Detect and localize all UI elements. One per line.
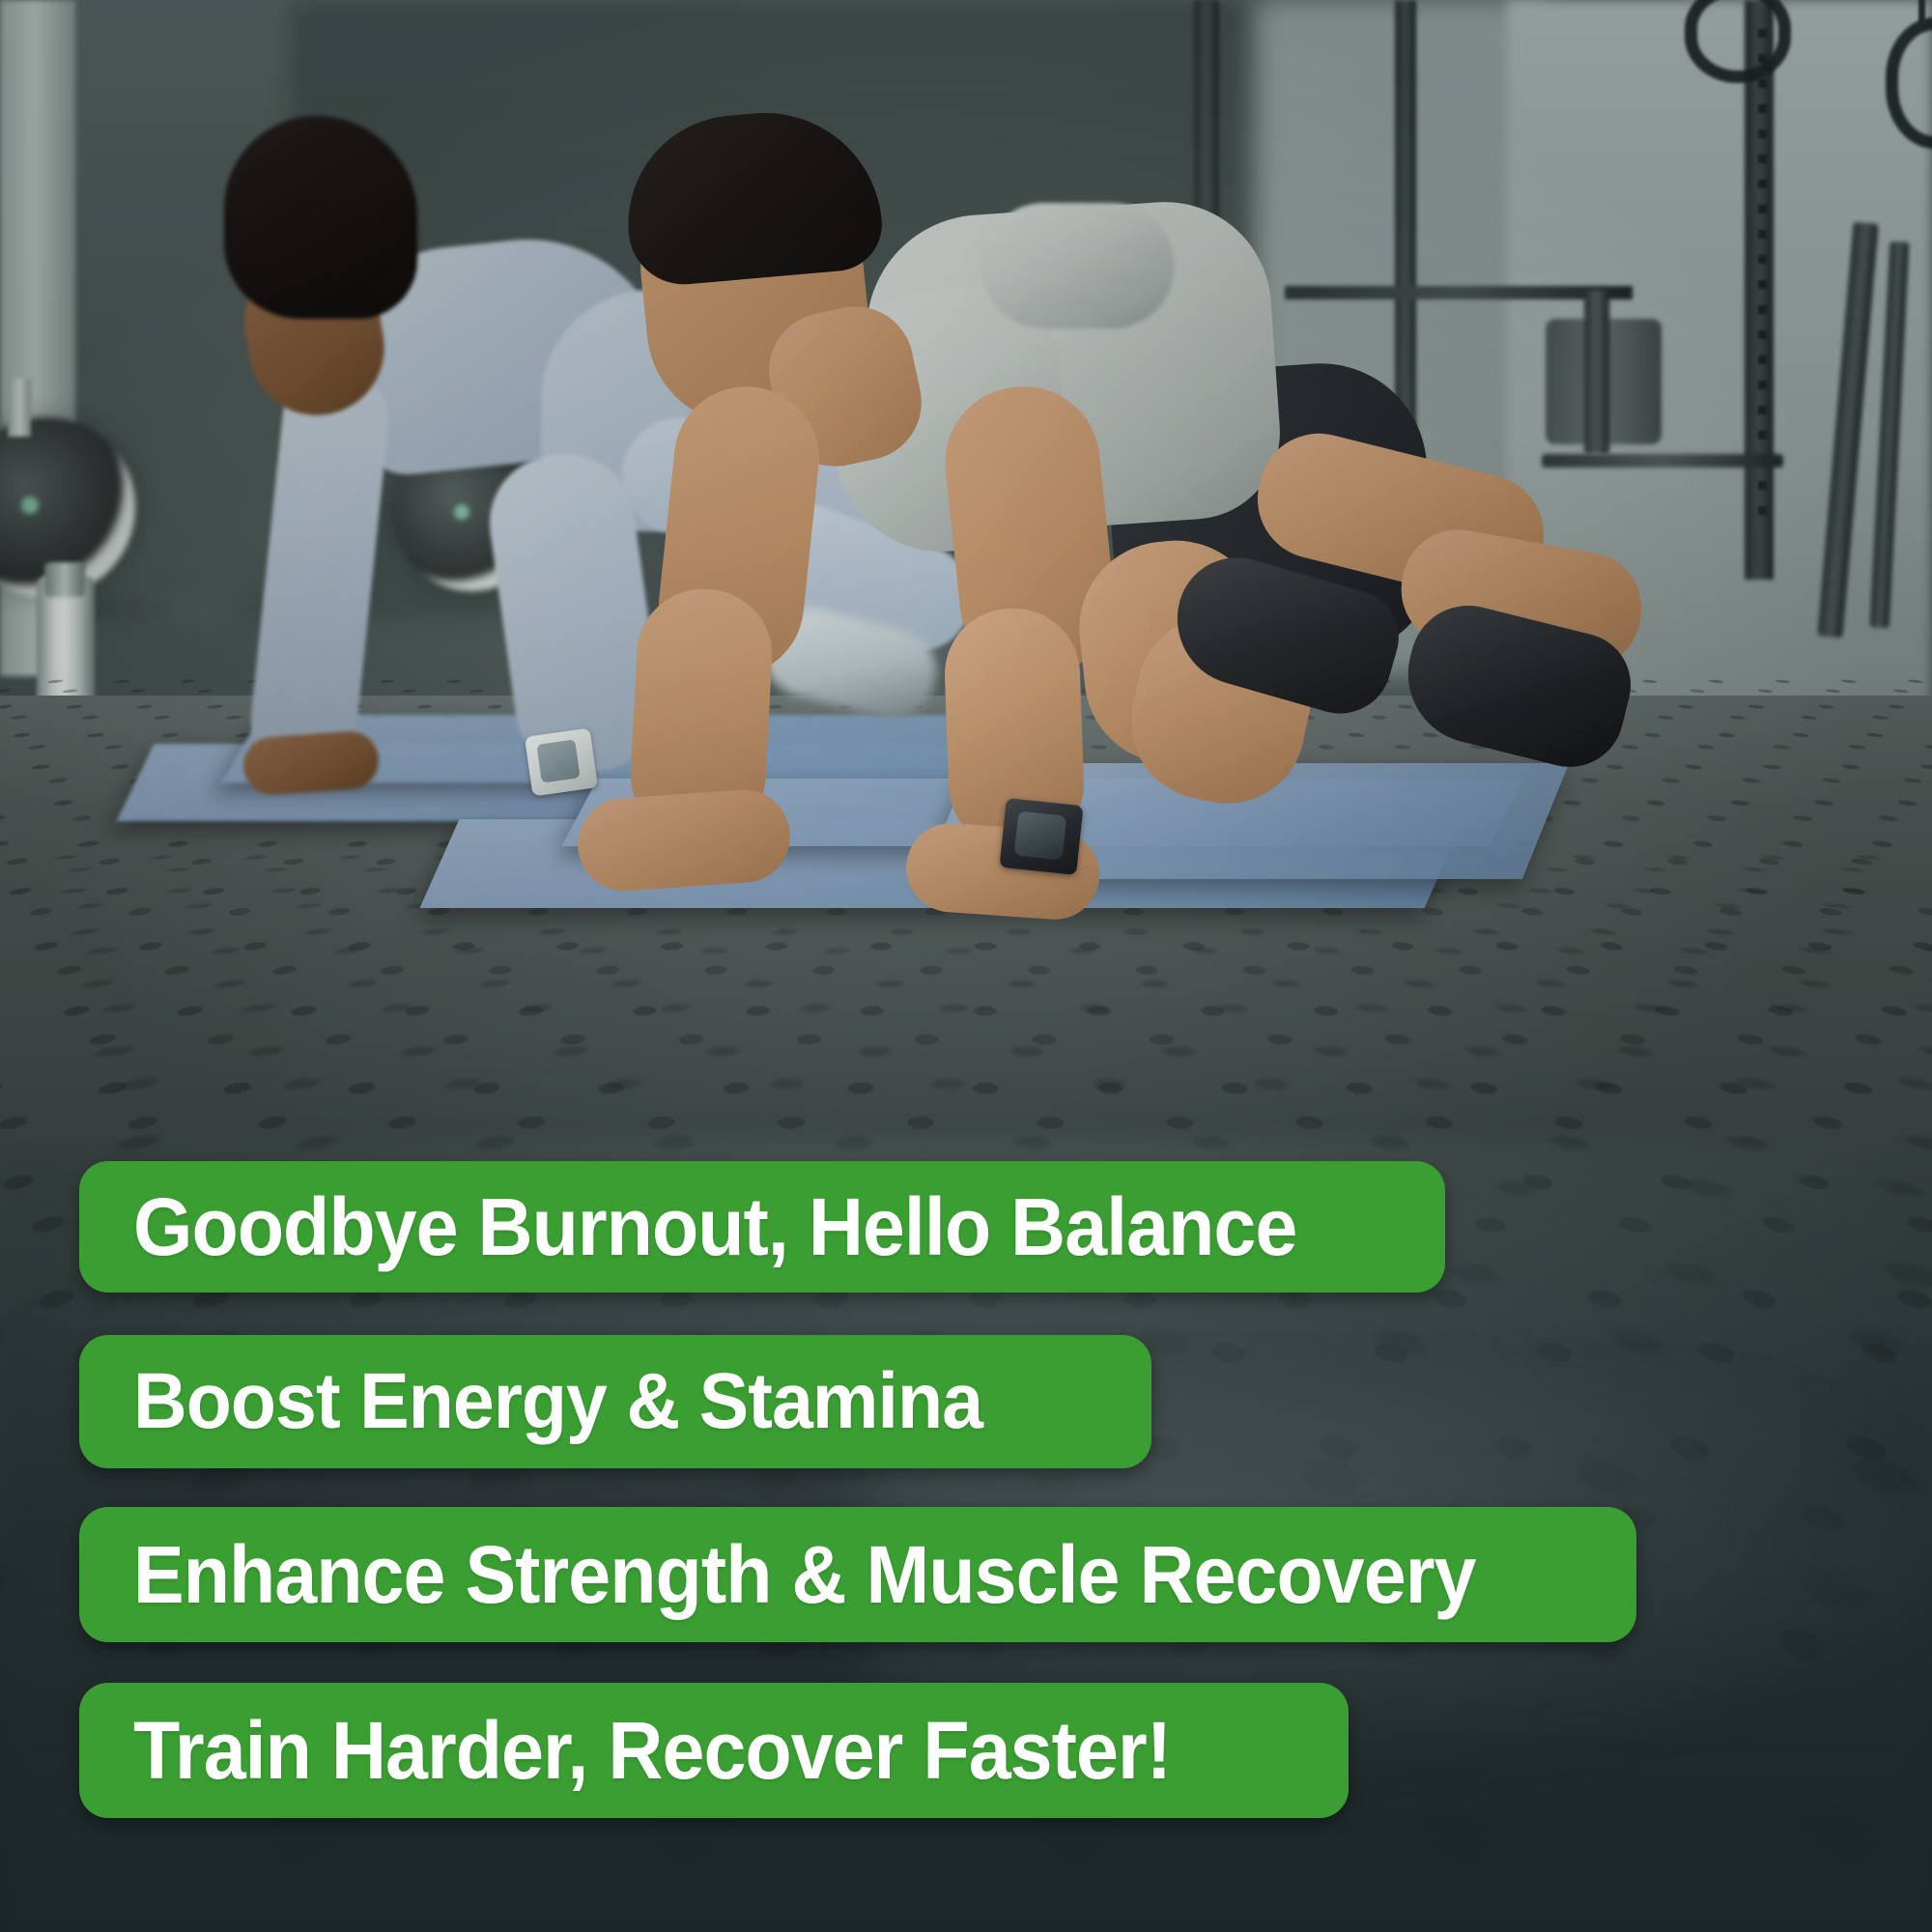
benefit-banner-4[interactable]: Train Harder, Recover Faster! bbox=[79, 1683, 1349, 1818]
ring-strap-right bbox=[1918, 0, 1925, 29]
man-hand-right bbox=[575, 786, 793, 894]
rack-crossbar bbox=[1285, 286, 1633, 299]
benefit-banner-3-label: Enhance Strength & Muscle Recovery bbox=[133, 1534, 1475, 1615]
benefit-banner-1-label: Goodbye Burnout, Hello Balance bbox=[133, 1186, 1296, 1267]
benefit-banner-1[interactable]: Goodbye Burnout, Hello Balance bbox=[79, 1161, 1445, 1293]
fan-led-mid bbox=[454, 504, 469, 520]
man-tank-shoulder bbox=[981, 203, 1175, 328]
fan-stem-left bbox=[8, 379, 31, 437]
benefit-banner-4-label: Train Harder, Recover Faster! bbox=[133, 1710, 1171, 1791]
promo-poster: Goodbye Burnout, Hello Balance Boost Ene… bbox=[0, 0, 1932, 1932]
benefit-banner-2-label: Boost Energy & Stamina bbox=[133, 1362, 982, 1441]
rack-bar-horizontal bbox=[1542, 454, 1783, 468]
benefit-banner-2[interactable]: Boost Energy & Stamina bbox=[79, 1335, 1151, 1468]
woman-hair bbox=[224, 116, 417, 319]
woman-hand bbox=[241, 729, 381, 797]
gym-photo bbox=[0, 0, 1932, 1932]
rack-dumbbell bbox=[1584, 290, 1609, 454]
benefit-banner-3[interactable]: Enhance Strength & Muscle Recovery bbox=[79, 1507, 1636, 1642]
water-bottle-cap bbox=[44, 562, 85, 597]
fan-led-left bbox=[21, 497, 39, 514]
man-smartwatch-face bbox=[1014, 811, 1067, 861]
woman-smartwatch-face bbox=[536, 739, 580, 782]
